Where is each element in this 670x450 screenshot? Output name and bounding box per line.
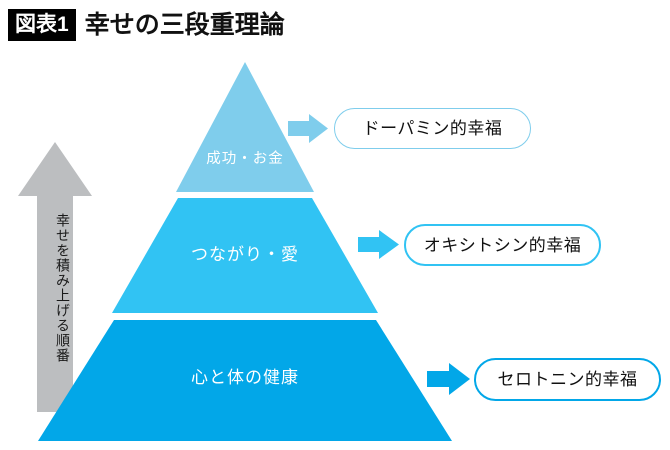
right-arrow-icon-oxytocin [358,230,399,259]
callout-oxytocin[interactable]: オキシトシン的幸福 [404,224,601,266]
right-arrow-icon-serotonin [427,363,470,395]
callout-oxytocin-label: オキシトシン的幸福 [424,237,582,254]
callout-serotonin-label: セロトニン的幸福 [498,371,638,388]
callout-dopamine-label: ドーパミン的幸福 [363,120,503,137]
callout-dopamine[interactable]: ドーパミン的幸福 [334,108,531,149]
callout-serotonin[interactable]: セロトニン的幸福 [474,358,661,401]
right-arrow-icon-dopamine [288,114,328,143]
figure-canvas: 図表1 幸せの三段重理論 幸せを積み上げる順番 成功・お金 つながり・愛 心と体… [0,0,670,450]
